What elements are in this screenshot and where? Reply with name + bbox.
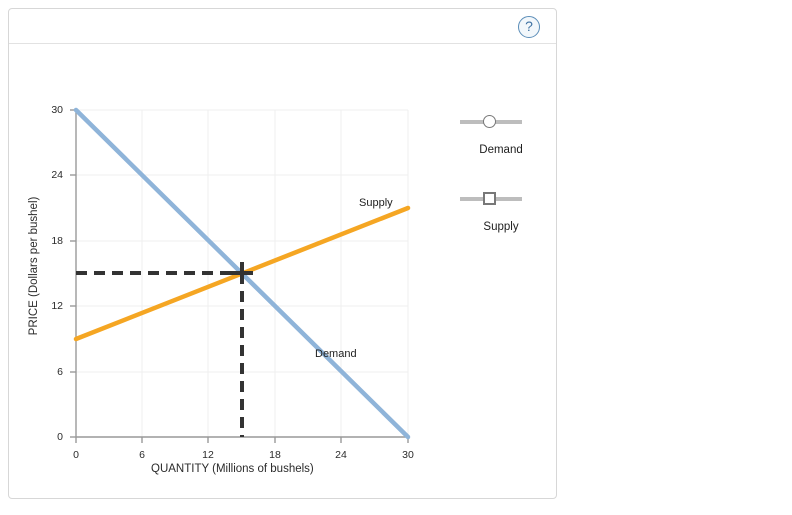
xtick-label-30: 30 [402,449,414,461]
supply-inline-label: Supply [359,197,393,209]
xtick-label-6: 6 [139,449,145,461]
circle-marker-icon [483,115,496,128]
xtick-label-18: 18 [269,449,281,461]
ytick-label-12: 12 [45,300,63,312]
xtick-label-0: 0 [73,449,79,461]
ytick-label-18: 18 [45,235,63,247]
legend-label-demand: Demand [456,144,546,156]
ytick-label-6: 6 [45,366,63,378]
xtick-label-24: 24 [335,449,347,461]
y-axis-title: PRICE (Dollars per bushel) [28,181,40,351]
legend-item-demand[interactable]: Demand [456,113,546,156]
demand-inline-label: Demand [315,348,357,360]
ytick-label-30: 30 [45,104,63,116]
legend-label-supply: Supply [456,221,546,233]
chart-panel: ? [8,8,557,499]
x-axis-title: QUANTITY (Millions of bushels) [151,463,314,475]
demand-legend-marker [456,113,546,131]
square-marker-icon [483,192,496,205]
panel-header: ? [9,9,556,44]
ytick-label-0: 0 [45,431,63,443]
ytick-label-24: 24 [45,169,63,181]
xtick-label-12: 12 [202,449,214,461]
supply-legend-marker [456,190,546,208]
help-icon[interactable]: ? [518,16,540,38]
legend-item-supply[interactable]: Supply [456,190,546,233]
chart-area: 30 24 18 12 6 0 0 6 12 18 24 30 QUANTITY… [9,45,556,498]
chart-legend: Demand Supply [456,113,546,267]
